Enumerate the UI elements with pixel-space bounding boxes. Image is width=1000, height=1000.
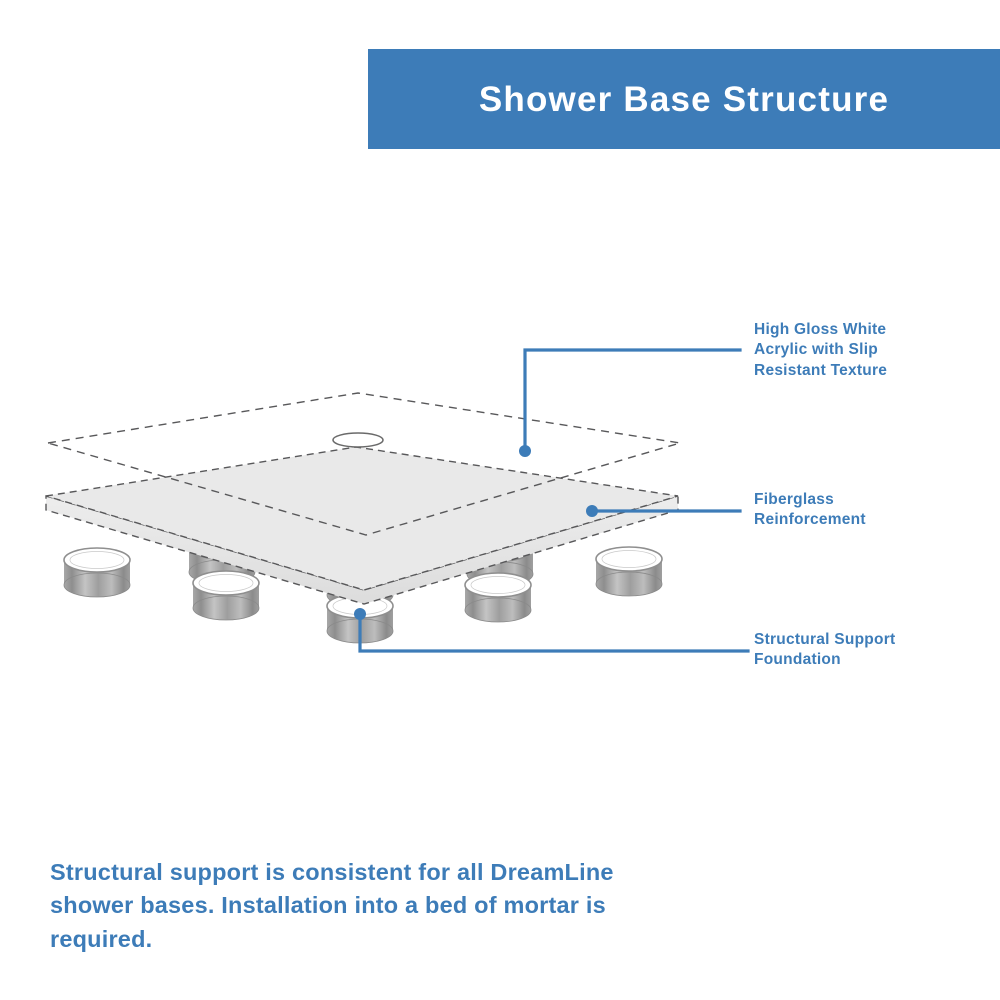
callout-label-support: Structural Support Foundation (754, 630, 989, 671)
leader-line-support (360, 614, 748, 651)
header-banner: Shower Base Structure (368, 49, 1000, 149)
support-ring (193, 571, 259, 620)
callout-label-fiberglass: Fiberglass Reinforcement (754, 490, 984, 531)
support-ring (596, 547, 662, 596)
fiberglass-slab-top (46, 447, 678, 590)
support-ring (64, 548, 130, 597)
leader-dot-fiberglass (586, 505, 598, 517)
callout-label-acrylic: High Gloss White Acrylic with Slip Resis… (754, 320, 984, 381)
leader-dot-acrylic (519, 445, 531, 457)
drain-opening-icon (333, 433, 383, 447)
page-root: Shower Base Structure (0, 0, 1000, 1000)
fiberglass-slab-layer (46, 447, 678, 604)
leader-dot-support (354, 608, 366, 620)
page-title: Shower Base Structure (479, 82, 889, 117)
footer-note: Structural support is consistent for all… (50, 856, 670, 956)
support-ring (465, 573, 531, 622)
